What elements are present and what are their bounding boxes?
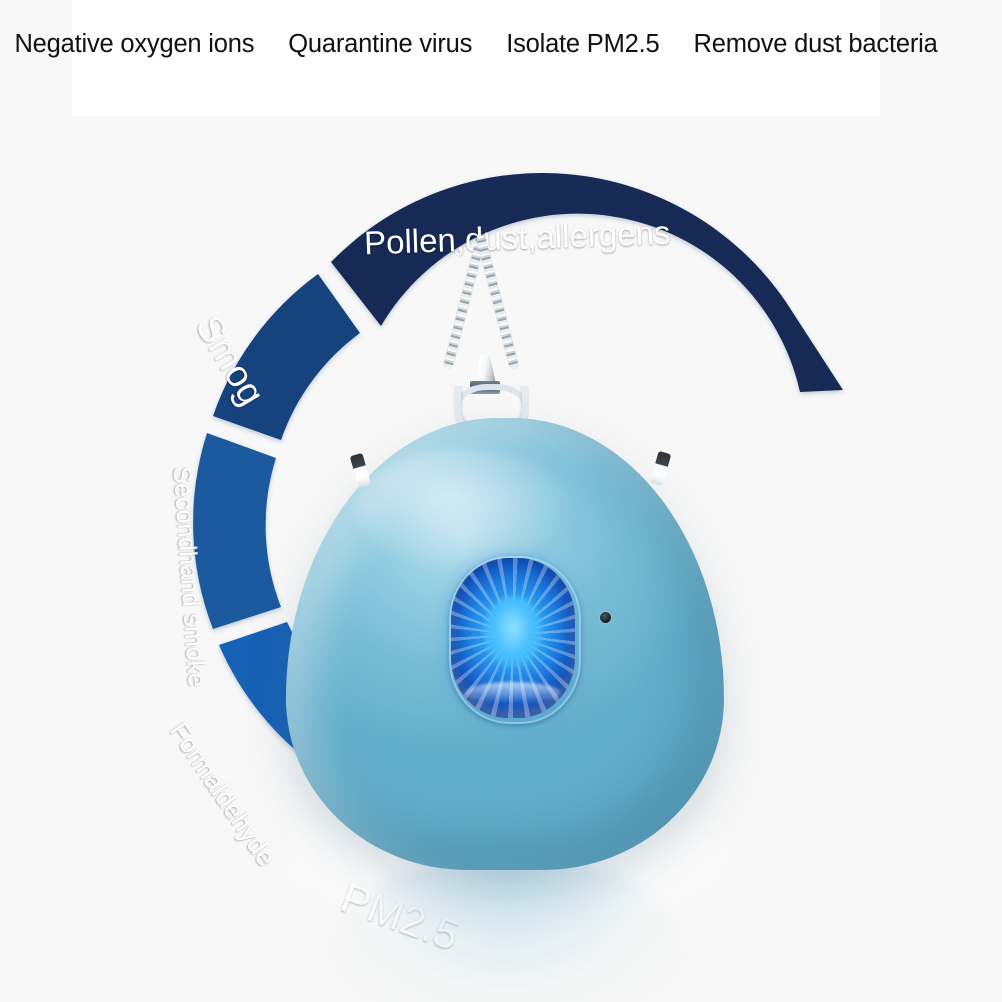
arc-label-secondhand-smoke: Secondhand smoke <box>167 465 211 687</box>
led-indicator-dot <box>600 612 611 623</box>
arc-label-formaldehyde: Formaldehyde <box>163 717 282 872</box>
feature-item-remove-dust-bacteria: Remove dust bacteria <box>694 30 938 59</box>
necklace-chain-right <box>476 235 519 369</box>
clip-post-left <box>350 453 372 488</box>
arc-segment-secondhand-smoke <box>193 433 281 629</box>
product-image <box>270 250 740 910</box>
feature-item-quarantine-virus: Quarantine virus <box>288 30 472 59</box>
lens-highlight <box>466 682 560 704</box>
feature-list: Negative oxygen ions Quarantine virus Is… <box>72 30 880 59</box>
product-infographic: Negative oxygen ions Quarantine virus Is… <box>0 0 1002 1002</box>
feature-banner: Negative oxygen ions Quarantine virus Is… <box>72 0 880 116</box>
clip-post-right <box>650 451 672 486</box>
body-gloss-highlight <box>356 450 571 570</box>
arc-label-smog: Smog <box>187 308 273 412</box>
feature-item-negative-oxygen-ions: Negative oxygen ions <box>14 30 254 59</box>
feature-item-isolate-pm25: Isolate PM2.5 <box>506 30 659 59</box>
necklace-chain-left <box>443 235 486 369</box>
